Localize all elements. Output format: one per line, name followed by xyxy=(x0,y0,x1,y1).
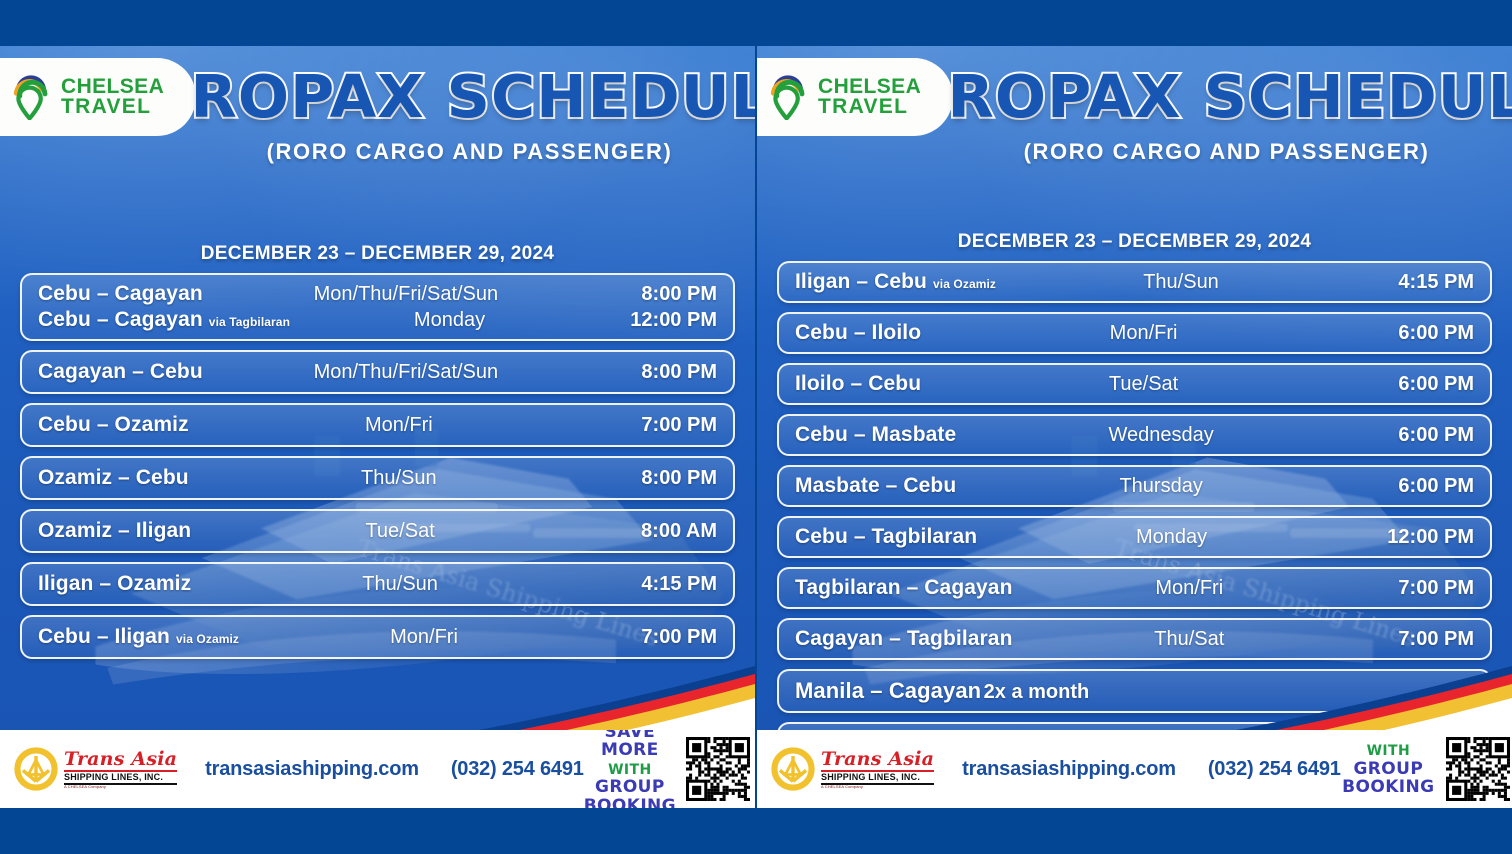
route-label: Cebu – Tagbilaran xyxy=(795,525,977,549)
page-title: ROPAX SCHEDULE xyxy=(191,62,749,131)
time-label: 7:00 PM xyxy=(609,414,717,437)
days-label: Monday xyxy=(977,526,1366,549)
days-label: Thursday xyxy=(956,475,1366,498)
transasia-wordmark: Trans Asia SHIPPING LINES, INC. A CHELSE… xyxy=(821,750,934,789)
schedule-line: Cebu – Cagayan via Tagbilaran Monday 12:… xyxy=(38,308,717,332)
brand-wordmark: CHELSEA TRAVEL xyxy=(61,77,164,117)
date-range-label: DECEMBER 23 – DECEMBER 29, 2024 xyxy=(0,243,755,265)
schedule-line: Tagbilaran – Cagayan Mon/Fri 7:00 PM xyxy=(795,576,1474,600)
schedule-row[interactable]: Tagbilaran – Cagayan Mon/Fri 7:00 PM xyxy=(777,567,1492,609)
poster-footer: Trans Asia SHIPPING LINES, INC. A CHELSE… xyxy=(757,730,1512,808)
date-range-label: DECEMBER 23 – DECEMBER 29, 2024 xyxy=(757,231,1512,253)
route-via-label: via Tagbilaran xyxy=(209,315,290,329)
transasia-logo: Trans Asia SHIPPING LINES, INC. A CHELSE… xyxy=(771,747,934,791)
route-label: Iligan – Ozamiz xyxy=(38,572,191,596)
schedule-row[interactable]: Cebu – Masbate Wednesday 6:00 PM xyxy=(777,414,1492,456)
company-fineprint: A CHELSEA Company xyxy=(64,785,177,789)
location-pin-icon xyxy=(767,75,809,120)
time-label: 7:00 PM xyxy=(1366,628,1474,651)
route-label: Ozamiz – Cebu xyxy=(38,466,189,490)
route-via-label: via Ozamiz xyxy=(176,632,239,646)
chelsea-travel-logo: CHELSEA TRAVEL xyxy=(0,58,196,136)
schedule-row[interactable]: Cebu – Tagbilaran Monday 12:00 PM xyxy=(777,516,1492,558)
time-label: 8:00 AM xyxy=(609,520,717,543)
days-label: Mon/Fri xyxy=(921,322,1366,345)
time-label: 6:00 PM xyxy=(1366,424,1474,447)
route-label: Tagbilaran – Cagayan xyxy=(795,576,1013,600)
brand-line-1: CHELSEA xyxy=(61,77,164,97)
schedule-row[interactable]: Ozamiz – Iligan Tue/Sat 8:00 AM xyxy=(20,509,735,553)
schedule-line: Ozamiz – Cebu Thu/Sun 8:00 PM xyxy=(38,466,717,490)
route-label: Cebu – Masbate xyxy=(795,423,956,447)
schedule-row[interactable]: Cebu – Ozamiz Mon/Fri 7:00 PM xyxy=(20,403,735,447)
promo-with: WITH xyxy=(608,762,652,778)
company-tagline: SHIPPING LINES, INC. xyxy=(64,773,177,782)
days-label: Mon/Fri xyxy=(1013,577,1366,600)
schedule-row[interactable]: Iligan – Ozamiz Thu/Sun 4:15 PM xyxy=(20,562,735,606)
location-pin-icon xyxy=(767,75,809,119)
schedule-row[interactable]: Iloilo – Cebu Tue/Sat 6:00 PM xyxy=(777,363,1492,405)
promo-group: GROUP xyxy=(595,777,665,797)
title-block: ROPAX SCHEDULE (RORO CARGO AND PASSENGER… xyxy=(196,62,743,165)
time-label: 6:00 PM xyxy=(1366,475,1474,498)
schedule-line: Masbate – Cebu Thursday 6:00 PM xyxy=(795,474,1474,498)
schedule-line: Cebu – Masbate Wednesday 6:00 PM xyxy=(795,423,1474,447)
route-label: Iligan – Cebu xyxy=(795,270,927,294)
promo-line-2: WITH GROUP xyxy=(1341,741,1436,778)
phone-number[interactable]: (032) 254 6491 xyxy=(1208,758,1341,781)
days-label: Mon/Thu/Fri/Sat/Sun xyxy=(203,283,609,306)
route-label: Cebu – Ozamiz xyxy=(38,413,189,437)
days-label: Wednesday xyxy=(956,424,1366,447)
schedule-line: Ozamiz – Iligan Tue/Sat 8:00 AM xyxy=(38,519,717,543)
time-label: 12:00 PM xyxy=(1366,526,1474,549)
qr-code-icon[interactable] xyxy=(1446,737,1510,801)
days-label: Thu/Sat xyxy=(1013,628,1366,651)
days-label: Thu/Sun xyxy=(191,573,609,596)
route-label: Cebu – Iligan xyxy=(38,625,170,649)
route-label: Iloilo – Cebu xyxy=(795,372,921,396)
promo-with: WITH xyxy=(1367,743,1411,759)
promo-line-1: SAVE MORE xyxy=(584,730,676,760)
transasia-logo: Trans Asia SHIPPING LINES, INC. A CHELSE… xyxy=(14,747,177,791)
days-label: Monday xyxy=(290,309,609,332)
website-link[interactable]: transasiashipping.com xyxy=(962,758,1176,781)
schedule-line: Iligan – Cebu via Ozamiz Thu/Sun 4:15 PM xyxy=(795,270,1474,294)
days-label: Thu/Sun xyxy=(189,467,609,490)
promo-line-3: BOOKING xyxy=(584,797,676,808)
time-label: 12:00 PM xyxy=(609,309,717,332)
transasia-mark-icon xyxy=(14,747,58,791)
phone-number[interactable]: (032) 254 6491 xyxy=(451,758,584,781)
time-label: 8:00 PM xyxy=(609,467,717,490)
promo-text: WITH GROUP BOOKING xyxy=(1341,741,1436,796)
transasia-mark-icon xyxy=(771,747,815,791)
schedule-table: Cebu – Cagayan Mon/Thu/Fri/Sat/Sun 8:00 … xyxy=(0,273,755,668)
time-label: 8:00 PM xyxy=(609,283,717,306)
poster-stage: Trans Asia Shipping Lines CHELSEA TRAVEL… xyxy=(0,0,1512,854)
schedule-row[interactable]: Cebu – Iligan via Ozamiz Mon/Fri 7:00 PM xyxy=(20,615,735,659)
time-label: 6:00 PM xyxy=(1366,322,1474,345)
company-name: Trans Asia xyxy=(821,750,934,769)
page-subtitle: (RORO CARGO AND PASSENGER) xyxy=(196,139,743,165)
schedule-row[interactable]: Iligan – Cebu via Ozamiz Thu/Sun 4:15 PM xyxy=(777,261,1492,303)
brand-wordmark: CHELSEA TRAVEL xyxy=(818,77,921,117)
schedule-row[interactable]: Cagayan – Cebu Mon/Thu/Fri/Sat/Sun 8:00 … xyxy=(20,350,735,394)
schedule-row[interactable]: Cagayan – Tagbilaran Thu/Sat 7:00 PM xyxy=(777,618,1492,660)
time-label: 4:15 PM xyxy=(609,573,717,596)
schedule-line: Cebu – Iligan via Ozamiz Mon/Fri 7:00 PM xyxy=(38,625,717,649)
route-label: Cagayan – Tagbilaran xyxy=(795,627,1013,651)
qr-code[interactable] xyxy=(1446,737,1510,801)
schedule-poster-left: Trans Asia Shipping Lines CHELSEA TRAVEL… xyxy=(0,46,755,808)
company-name: Trans Asia xyxy=(64,750,177,769)
group-booking-promo: WITH GROUP BOOKING xyxy=(1341,737,1512,801)
qr-code-icon[interactable] xyxy=(686,737,750,801)
poster-footer: Trans Asia SHIPPING LINES, INC. A CHELSE… xyxy=(0,730,755,808)
qr-code[interactable] xyxy=(686,737,750,801)
promo-text: SAVE MORE WITH GROUP BOOKING xyxy=(584,730,676,808)
schedule-line: Iloilo – Cebu Tue/Sat 6:00 PM xyxy=(795,372,1474,396)
route-label: Cebu – Iloilo xyxy=(795,321,921,345)
brand-line-2: TRAVEL xyxy=(61,97,164,117)
company-fineprint: A CHELSEA Company xyxy=(821,785,934,789)
schedule-line: Cagayan – Cebu Mon/Thu/Fri/Sat/Sun 8:00 … xyxy=(38,360,717,384)
time-label: 8:00 PM xyxy=(609,361,717,384)
brand-line-1: CHELSEA xyxy=(818,77,921,97)
days-label: Mon/Fri xyxy=(189,414,609,437)
schedule-row[interactable]: Cebu – Cagayan Mon/Thu/Fri/Sat/Sun 8:00 … xyxy=(20,273,735,341)
schedule-line: Cebu – Cagayan Mon/Thu/Fri/Sat/Sun 8:00 … xyxy=(38,282,717,306)
time-label: 4:15 PM xyxy=(1366,271,1474,294)
transasia-logo-icon xyxy=(771,747,815,791)
poster-header: CHELSEA TRAVEL ROPAX SCHEDULE (RORO CARG… xyxy=(0,46,755,196)
route-via-label: via Ozamiz xyxy=(933,277,996,291)
days-label: Tue/Sat xyxy=(191,520,609,543)
brand-line-2: TRAVEL xyxy=(818,97,921,117)
schedule-row[interactable]: Cebu – Iloilo Mon/Fri 6:00 PM xyxy=(777,312,1492,354)
schedule-row[interactable]: Ozamiz – Cebu Thu/Sun 8:00 PM xyxy=(20,456,735,500)
company-tagline: SHIPPING LINES, INC. xyxy=(821,773,934,782)
time-label: 6:00 PM xyxy=(1366,373,1474,396)
route-label: Masbate – Cebu xyxy=(795,474,956,498)
schedule-line: Cebu – Iloilo Mon/Fri 6:00 PM xyxy=(795,321,1474,345)
schedule-line: Cagayan – Tagbilaran Thu/Sat 7:00 PM xyxy=(795,627,1474,651)
days-label: Mon/Fri xyxy=(239,626,609,649)
title-block: ROPAX SCHEDULE (RORO CARGO AND PASSENGER… xyxy=(953,62,1500,165)
time-label: 7:00 PM xyxy=(1366,577,1474,600)
chelsea-travel-logo: CHELSEA TRAVEL xyxy=(757,58,953,136)
poster-header: CHELSEA TRAVEL ROPAX SCHEDULE (RORO CARG… xyxy=(757,46,1512,196)
route-label: Cebu – Cagayan xyxy=(38,282,203,306)
route-label: Cagayan – Cebu xyxy=(38,360,203,384)
page-subtitle: (RORO CARGO AND PASSENGER) xyxy=(953,139,1500,165)
time-label: 7:00 PM xyxy=(609,626,717,649)
location-pin-icon xyxy=(10,75,52,120)
group-booking-promo: SAVE MORE WITH GROUP BOOKING xyxy=(584,730,755,808)
transasia-logo-icon xyxy=(14,747,58,791)
promo-line-3: BOOKING xyxy=(1341,778,1436,796)
promo-line-2: WITH GROUP xyxy=(584,760,676,797)
days-label: Mon/Thu/Fri/Sat/Sun xyxy=(203,361,609,384)
location-pin-icon xyxy=(10,75,52,119)
schedule-line: Cebu – Tagbilaran Monday 12:00 PM xyxy=(795,525,1474,549)
promo-group: GROUP xyxy=(1353,759,1423,779)
schedule-row[interactable]: Masbate – Cebu Thursday 6:00 PM xyxy=(777,465,1492,507)
transasia-wordmark: Trans Asia SHIPPING LINES, INC. A CHELSE… xyxy=(64,750,177,789)
website-link[interactable]: transasiashipping.com xyxy=(205,758,419,781)
schedule-line: Cebu – Ozamiz Mon/Fri 7:00 PM xyxy=(38,413,717,437)
route-label: Cebu – Cagayan xyxy=(38,308,203,332)
schedule-poster-right: Trans Asia Shipping Lines CHELSEA TRAVEL… xyxy=(757,46,1512,808)
schedule-line: Iligan – Ozamiz Thu/Sun 4:15 PM xyxy=(38,572,717,596)
route-label: Ozamiz – Iligan xyxy=(38,519,191,543)
days-label: Thu/Sun xyxy=(996,271,1366,294)
days-label: Tue/Sat xyxy=(921,373,1366,396)
page-title: ROPAX SCHEDULE xyxy=(948,62,1506,131)
